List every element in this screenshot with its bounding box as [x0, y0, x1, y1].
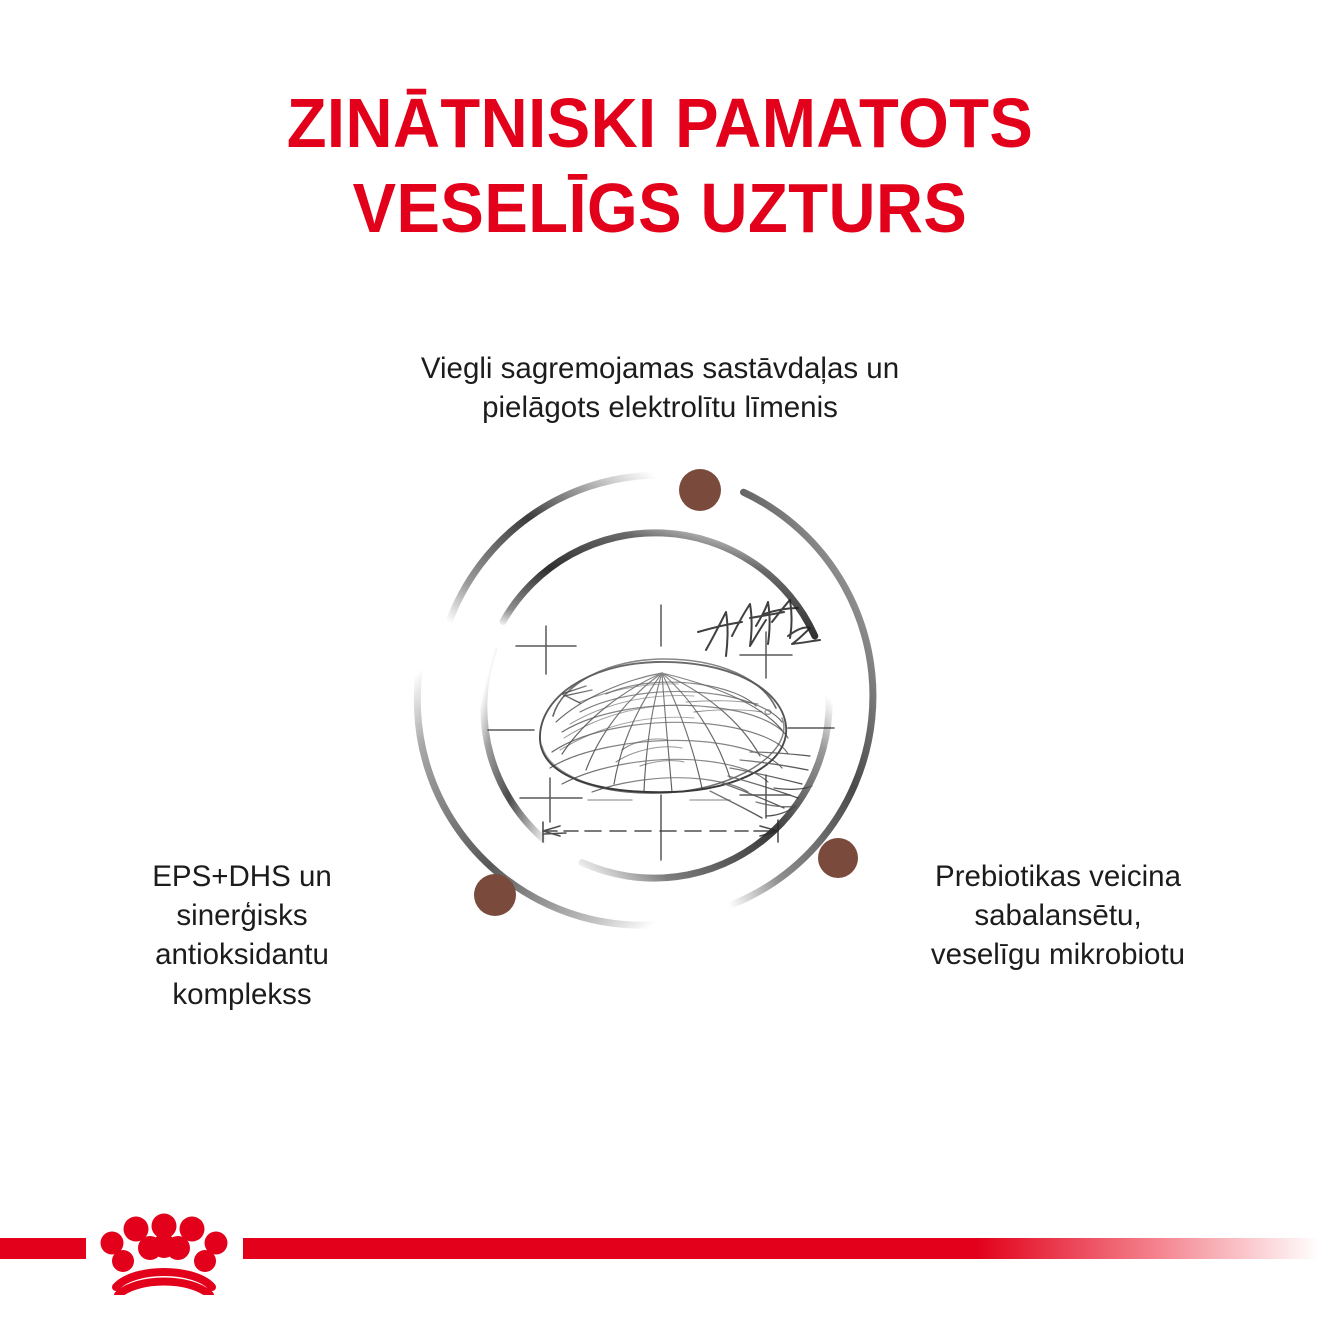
footer-bar-right: [243, 1238, 1320, 1259]
callout-eps-dhs-antioxidant: EPS+DHS un sinerģisks antioksidantu komp…: [62, 857, 422, 1014]
kibble-technical-sketch-emblem: [410, 450, 910, 950]
crown-dot-low-right: [194, 1250, 216, 1272]
kibble-outline: [540, 659, 786, 793]
callout-digestibility-electrolytes: Viegli sagremojamas sastāvdaļas un pielā…: [330, 349, 990, 427]
callout-prebiotics-microbiota: Prebiotikas veicina sabalansētu, veselīg…: [872, 857, 1244, 975]
footer-bar-left: [0, 1238, 86, 1259]
crown-dot-low-left: [112, 1250, 134, 1272]
kibble-parallels: [550, 682, 788, 792]
footer: [0, 1205, 1320, 1320]
poster-canvas: ZINĀTNISKI PAMATOTS VESELĪGS UZTURS Vieg…: [0, 0, 1320, 1320]
left-arrow-annotation: [562, 686, 592, 703]
dot-right: [818, 838, 858, 878]
crown-base-arcs: [116, 1272, 212, 1295]
crown-dot-mid-right: [166, 1236, 190, 1260]
dot-bottom-left: [474, 874, 516, 916]
dot-top: [679, 469, 721, 511]
page-title: ZINĀTNISKI PAMATOTS VESELĪGS UZTURS: [46, 81, 1274, 252]
royal-canin-crown-logo: [96, 1213, 232, 1295]
